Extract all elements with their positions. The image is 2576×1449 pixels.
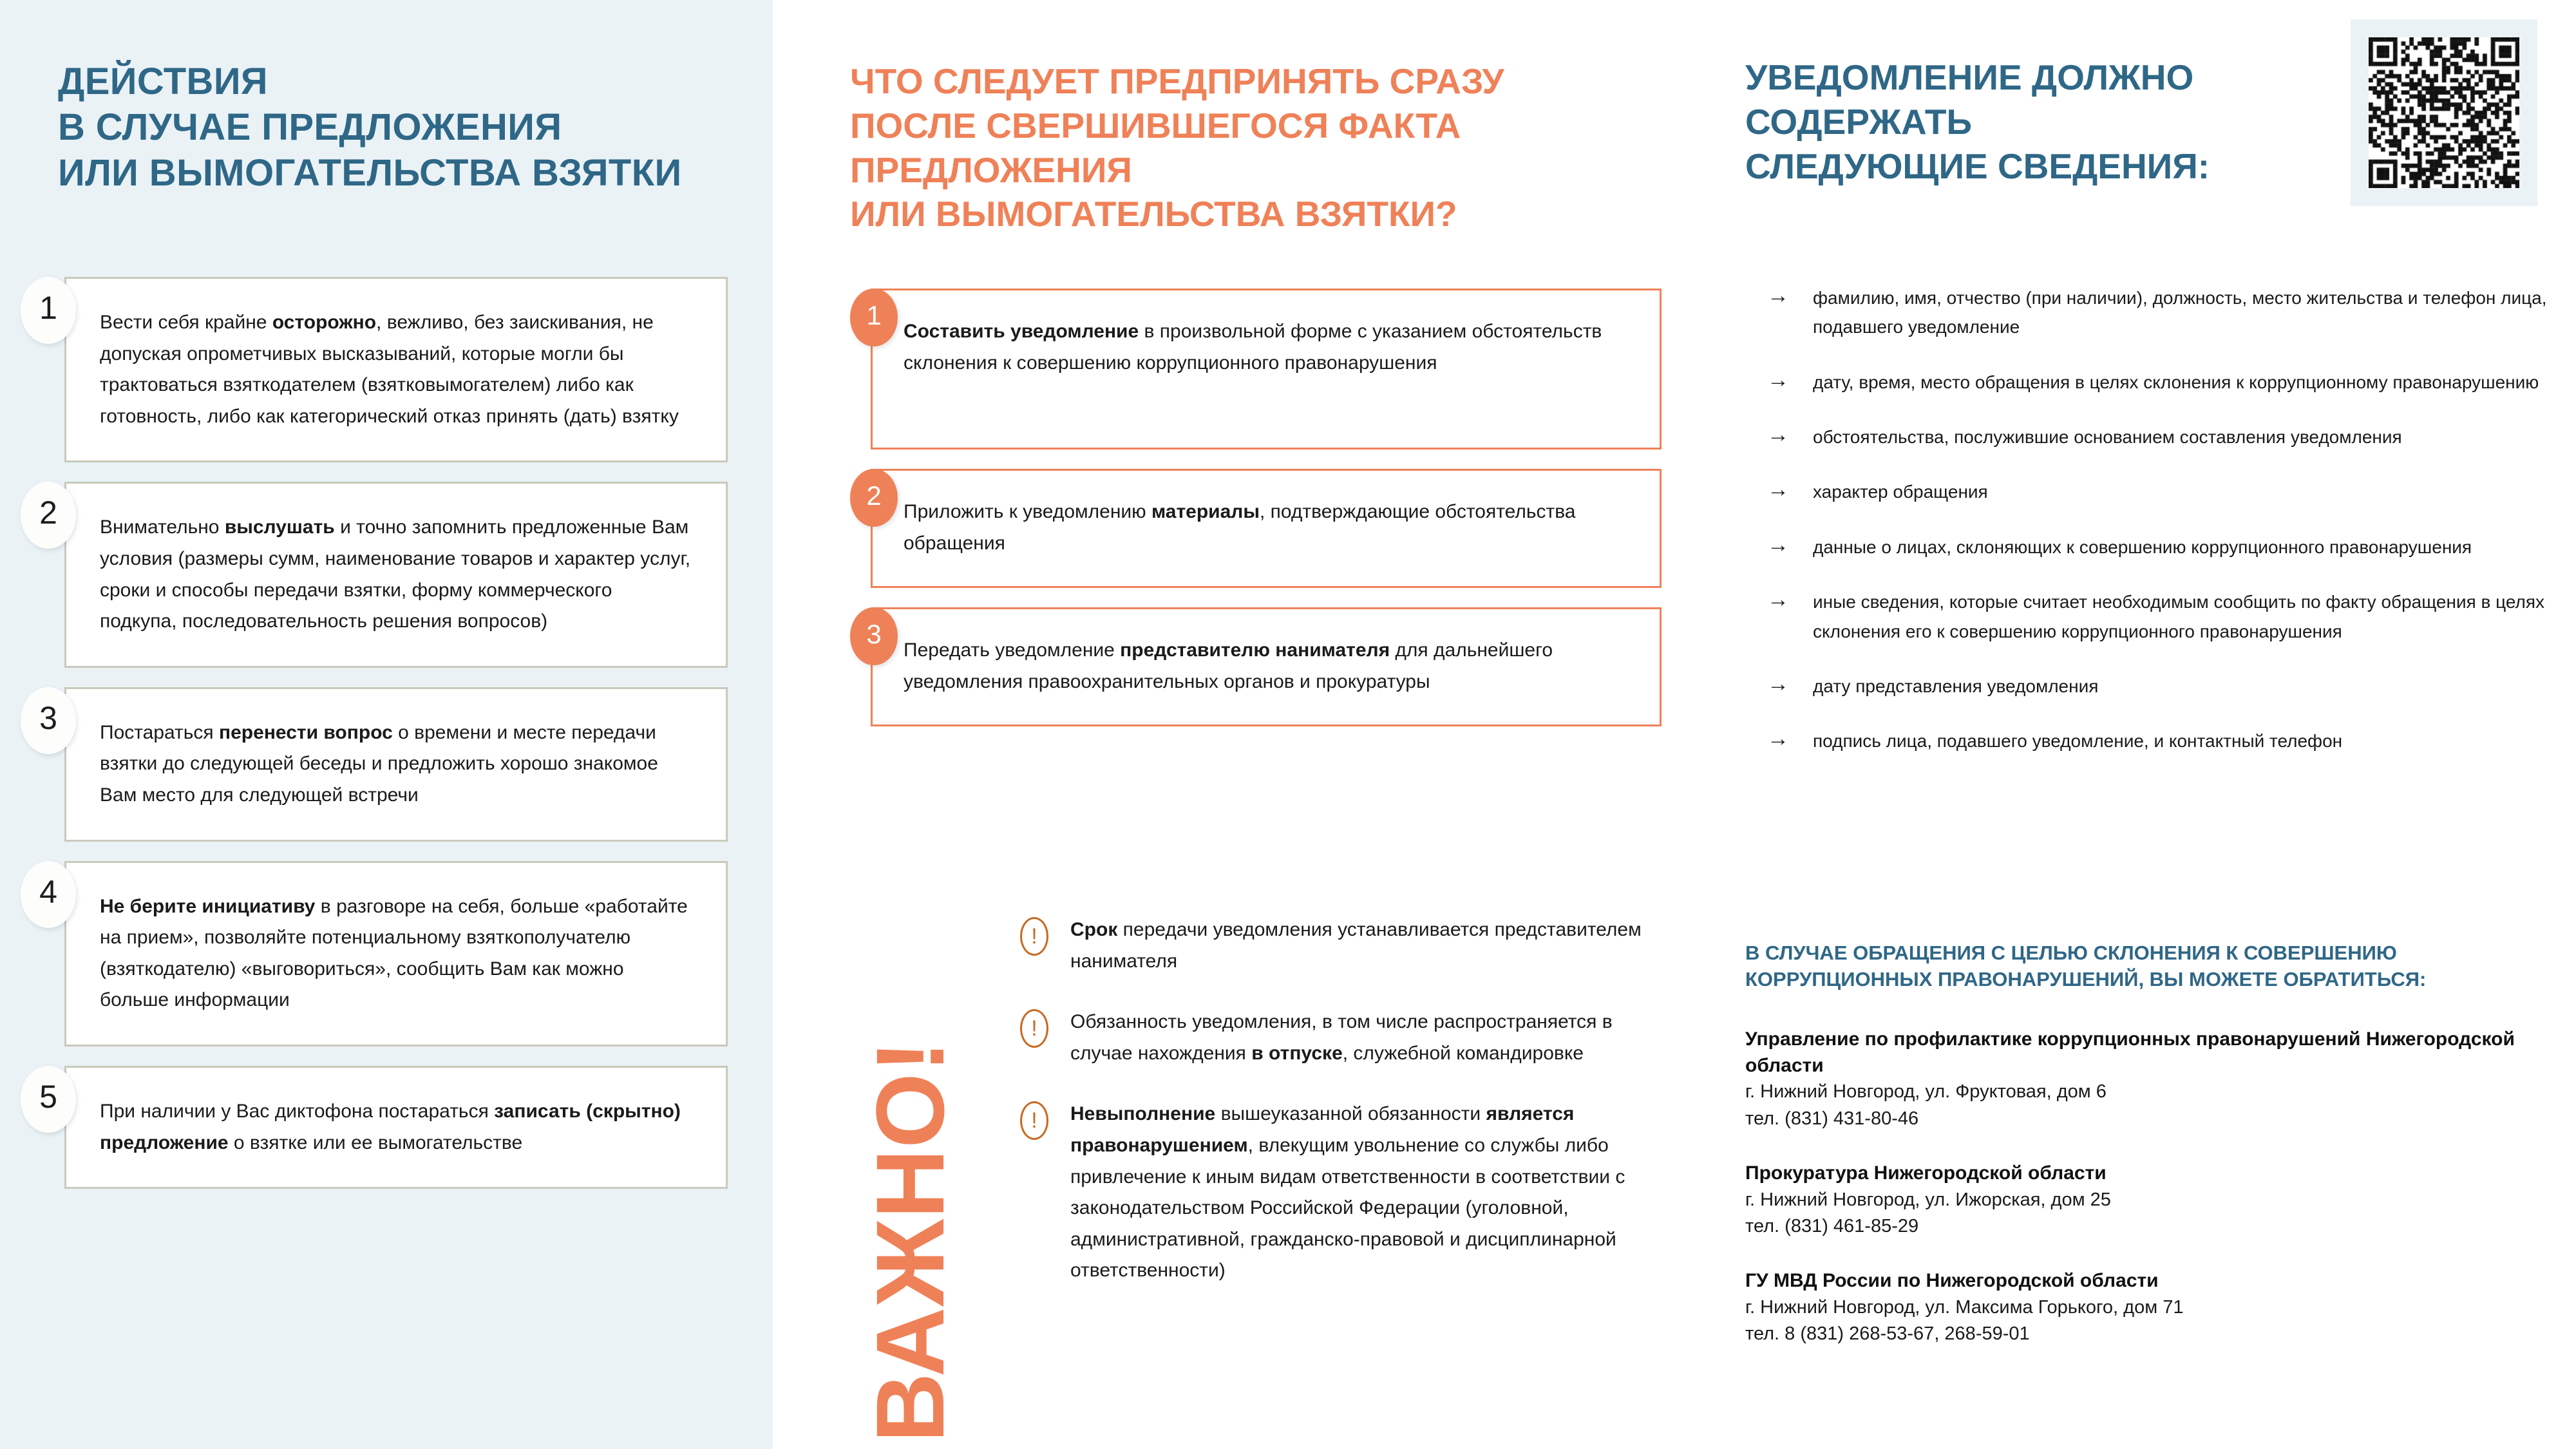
arrow-right-icon: →	[1767, 589, 1789, 611]
bullet-text: фамилию, имя, отчество (при наличии), до…	[1813, 283, 2550, 342]
contact-block: Прокуратура Нижегородской области г. Ниж…	[1745, 1160, 2557, 1240]
bullet-text: обстоятельства, послужившие основанием с…	[1813, 422, 2550, 451]
right-title-line-1: УВЕДОМЛЕНИЕ ДОЛЖНО	[1745, 55, 2306, 100]
step-number-badge: 3	[850, 607, 898, 665]
step-number-badge: 4	[21, 861, 76, 928]
step-text-bold: выслушать	[225, 516, 335, 538]
step-text-before: Внимательно	[100, 516, 225, 538]
arrow-right-icon: →	[1767, 673, 1789, 695]
contact-phone[interactable]: тел. (831) 431-80-46	[1745, 1106, 2557, 1132]
contact-address: г. Нижний Новгород, ул. Фруктовая, дом 6	[1745, 1079, 2557, 1105]
important-word: ВАЖНО!	[862, 1039, 958, 1443]
left-title-line-1: ДЕЙСТВИЯ	[58, 59, 741, 105]
step-number-badge: 3	[21, 687, 76, 754]
step-text-before: При наличии у Вас диктофона постараться	[100, 1101, 494, 1122]
step-text-before: Передать уведомление	[904, 639, 1120, 661]
contact-phone[interactable]: тел. (831) 461-85-29	[1745, 1213, 2557, 1240]
list-item: 5 При наличии у Вас диктофона постаратьс…	[0, 1066, 773, 1189]
step-text-before: Вести себя крайне	[100, 312, 272, 333]
list-item: → дату, время, место обращения в целях с…	[1745, 368, 2550, 397]
contact-name: Управление по профилактике коррупционных…	[1745, 1027, 2557, 1079]
list-item: → подпись лица, подавшего уведомление, и…	[1745, 726, 2550, 755]
contact-name: Прокуратура Нижегородской области	[1745, 1160, 2557, 1187]
step-number-badge: 1	[850, 289, 898, 346]
right-column-title: УВЕДОМЛЕНИЕ ДОЛЖНО СОДЕРЖАТЬ СЛЕДУЮЩИЕ С…	[1745, 55, 2306, 188]
note-text-after: , служебной командировке	[1343, 1043, 1584, 1064]
arrow-right-icon: →	[1767, 478, 1789, 500]
note-text-after: передачи уведомления устанавливается пре…	[1070, 919, 1642, 972]
list-item: 3 Передать уведомление представителю нан…	[850, 607, 1687, 726]
step-text-bold: осторожно	[272, 312, 376, 333]
contacts-heading: В СЛУЧАЕ ОБРАЩЕНИЯ С ЦЕЛЬЮ СКЛОНЕНИЯ К С…	[1745, 940, 2557, 993]
bullet-text: иные сведения, которые считает необходим…	[1813, 587, 2550, 646]
bullet-text: дату, время, место обращения в целях скл…	[1813, 368, 2550, 397]
step-text: Приложить к уведомлению материалы, подтв…	[904, 497, 1629, 559]
bullet-text: характер обращения	[1813, 477, 2550, 506]
middle-steps-list: 1 Составить уведомление в произвольной ф…	[850, 269, 1687, 741]
qr-code-icon[interactable]	[2369, 37, 2519, 188]
left-column-title: ДЕЙСТВИЯ В СЛУЧАЕ ПРЕДЛОЖЕНИЯ ИЛИ ВЫМОГА…	[58, 59, 741, 196]
step-text: Передать уведомление представителю наним…	[904, 635, 1629, 697]
note-text-bold: в отпуске	[1251, 1043, 1343, 1064]
step-number-badge: 2	[850, 469, 898, 527]
note-text-bold: Невыполнение	[1070, 1103, 1215, 1124]
contact-name: ГУ МВД России по Нижегородской области	[1745, 1268, 2557, 1294]
list-item: ! Срок передачи уведомления устанавливае…	[998, 914, 1642, 977]
list-item: 2 Внимательно выслушать и точно запомнит…	[0, 482, 773, 667]
bullet-text: дату представления уведомления	[1813, 672, 2550, 701]
step-card: Приложить к уведомлению материалы, подтв…	[871, 469, 1662, 588]
bullet-text: подпись лица, подавшего уведомление, и к…	[1813, 726, 2550, 755]
exclamation-icon: !	[1020, 1101, 1048, 1140]
step-text-bold: представителю нанимателя	[1120, 639, 1390, 661]
note-text-after: , влекущим увольнение со службы либо при…	[1070, 1135, 1625, 1281]
middle-title-line-1: ЧТО СЛЕДУЕТ ПРЕДПРИНЯТЬ СРАЗУ	[850, 59, 1681, 104]
step-text: Вести себя крайне осторожно, вежливо, бе…	[100, 307, 692, 432]
list-item: → характер обращения	[1745, 477, 2550, 506]
important-block: ВАЖНО! ! Срок передачи уведомления устан…	[850, 914, 1687, 1316]
list-item: 1 Составить уведомление в произвольной ф…	[850, 289, 1687, 450]
step-text-after: о взятке или ее вымогательстве	[229, 1132, 523, 1153]
middle-title-line-4: ИЛИ ВЫМОГАТЕЛЬСТВА ВЗЯТКИ?	[850, 192, 1681, 236]
list-item: 1 Вести себя крайне осторожно, вежливо, …	[0, 277, 773, 462]
arrow-right-icon: →	[1767, 285, 1789, 307]
step-text-bold: Не берите инициативу	[100, 896, 315, 917]
middle-column-title: ЧТО СЛЕДУЕТ ПРЕДПРИНЯТЬ СРАЗУ ПОСЛЕ СВЕР…	[850, 59, 1681, 236]
step-text: Составить уведомление в произвольной фор…	[904, 316, 1629, 379]
bullet-text: данные о лицах, склоняющих к совершению …	[1813, 533, 2550, 562]
required-info-list: → фамилию, имя, отчество (при наличии), …	[1745, 283, 2550, 782]
list-item: → дату представления уведомления	[1745, 672, 2550, 701]
left-title-line-2: В СЛУЧАЕ ПРЕДЛОЖЕНИЯ	[58, 105, 741, 151]
step-text-before: Постараться	[100, 722, 219, 743]
right-title-line-3: СЛЕДУЮЩИЕ СВЕДЕНИЯ:	[1745, 144, 2306, 189]
list-item: 3 Постараться перенести вопрос о времени…	[0, 687, 773, 842]
step-card: При наличии у Вас диктофона постараться …	[64, 1066, 728, 1189]
list-item: ! Невыполнение вышеуказанной обязанности…	[998, 1099, 1642, 1287]
list-item: → обстоятельства, послужившие основанием…	[1745, 422, 2550, 451]
step-card: Не берите инициативу в разговоре на себя…	[64, 861, 728, 1046]
step-text: Постараться перенести вопрос о времени и…	[100, 717, 692, 811]
list-item: 4 Не берите инициативу в разговоре на се…	[0, 861, 773, 1046]
contact-block: Управление по профилактике коррупционных…	[1745, 1027, 2557, 1132]
exclamation-icon: !	[1020, 1009, 1048, 1048]
left-steps-list: 1 Вести себя крайне осторожно, вежливо, …	[0, 258, 773, 1207]
list-item: 2 Приложить к уведомлению материалы, под…	[850, 469, 1687, 588]
important-vertical-label: ВАЖНО!	[857, 914, 972, 1449]
step-card: Вести себя крайне осторожно, вежливо, бе…	[64, 277, 728, 462]
arrow-right-icon: →	[1767, 369, 1789, 391]
step-text-bold: материалы	[1151, 501, 1260, 522]
middle-column: ЧТО СЛЕДУЕТ ПРЕДПРИНЯТЬ СРАЗУ ПОСЛЕ СВЕР…	[850, 0, 1687, 1449]
list-item: → иные сведения, которые считает необход…	[1745, 587, 2550, 646]
step-text: Не берите инициативу в разговоре на себя…	[100, 891, 692, 1016]
contact-phone[interactable]: тел. 8 (831) 268-53-67, 268-59-01	[1745, 1321, 2557, 1347]
arrow-right-icon: →	[1767, 728, 1789, 750]
step-card: Постараться перенести вопрос о времени и…	[64, 687, 728, 842]
note-text-bold: Срок	[1070, 919, 1117, 940]
step-text: Внимательно выслушать и точно запомнить …	[100, 512, 692, 637]
arrow-right-icon: →	[1767, 534, 1789, 556]
contact-address: г. Нижний Новгород, ул. Максима Горького…	[1745, 1294, 2557, 1321]
step-text-before: Приложить к уведомлению	[904, 501, 1151, 522]
exclamation-icon: !	[1020, 917, 1048, 956]
contacts-section: В СЛУЧАЕ ОБРАЩЕНИЯ С ЦЕЛЬЮ СКЛОНЕНИЯ К С…	[1745, 940, 2557, 1376]
list-item: → данные о лицах, склоняющих к совершени…	[1745, 533, 2550, 562]
step-number-badge: 1	[21, 277, 76, 344]
step-card: Внимательно выслушать и точно запомнить …	[64, 482, 728, 667]
left-title-line-3: ИЛИ ВЫМОГАТЕЛЬСТВА ВЗЯТКИ	[58, 151, 741, 196]
contact-block: ГУ МВД России по Нижегородской области г…	[1745, 1268, 2557, 1347]
right-column: УВЕДОМЛЕНИЕ ДОЛЖНО СОДЕРЖАТЬ СЛЕДУЮЩИЕ С…	[1745, 0, 2576, 1449]
arrow-right-icon: →	[1767, 424, 1789, 446]
note-text: Срок передачи уведомления устанавливаетс…	[1070, 914, 1642, 977]
list-item: → фамилию, имя, отчество (при наличии), …	[1745, 283, 2550, 342]
step-number-badge: 5	[21, 1066, 76, 1133]
step-card: Передать уведомление представителю наним…	[871, 607, 1662, 726]
step-text: При наличии у Вас диктофона постараться …	[100, 1096, 692, 1159]
contact-address: г. Нижний Новгород, ул. Ижорская, дом 25	[1745, 1187, 2557, 1213]
note-text: Обязанность уведомления, в том числе рас…	[1070, 1007, 1642, 1069]
middle-title-line-3: ПРЕДЛОЖЕНИЯ	[850, 148, 1681, 193]
note-text: Невыполнение вышеуказанной обязанности я…	[1070, 1099, 1642, 1287]
step-text-bold: Составить уведомление	[904, 321, 1139, 342]
right-title-line-2: СОДЕРЖАТЬ	[1745, 100, 2306, 144]
middle-title-line-2: ПОСЛЕ СВЕРШИВШЕГОСЯ ФАКТА	[850, 104, 1681, 148]
note-text-mid: вышеуказанной обязанности	[1215, 1103, 1486, 1124]
step-number-badge: 2	[21, 482, 76, 549]
step-card: Составить уведомление в произвольной фор…	[871, 289, 1662, 450]
step-text-bold: перенести вопрос	[219, 722, 393, 743]
left-panel: ДЕЙСТВИЯ В СЛУЧАЕ ПРЕДЛОЖЕНИЯ ИЛИ ВЫМОГА…	[0, 0, 773, 1449]
list-item: ! Обязанность уведомления, в том числе р…	[998, 1007, 1642, 1069]
qr-code-panel[interactable]	[2351, 19, 2537, 206]
